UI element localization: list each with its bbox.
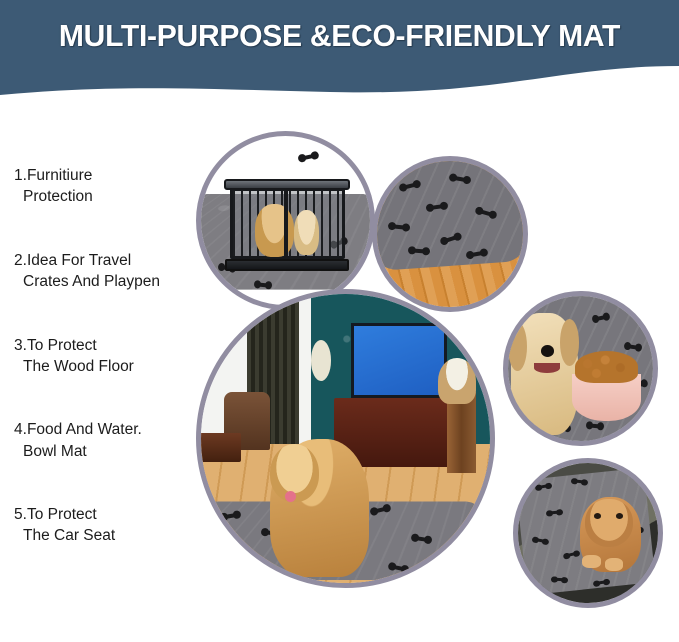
bone-icon: [391, 564, 405, 571]
feature-item-1: 1.Furnitiure Protection: [14, 165, 200, 208]
bone-icon: [589, 423, 601, 428]
crate-divider-bar: [284, 188, 288, 259]
puppy-left-eye: [594, 513, 601, 519]
feature-item-4: 4.Food And Water. Bowl Mat: [14, 419, 200, 462]
bone-icon: [403, 183, 418, 190]
crate-scene: [201, 136, 370, 305]
feature-1-line2: Protection: [14, 186, 200, 207]
crate-photo-bubble: [196, 131, 375, 310]
bone-icon: [574, 479, 585, 483]
dog-right-ear: [560, 319, 579, 365]
dog-left-ear: [508, 322, 527, 371]
car-seat-photo-bubble: [513, 458, 663, 608]
bone-icon: [595, 315, 608, 321]
bone-icon: [470, 250, 484, 256]
bone-icon: [627, 344, 639, 350]
bone-icon: [374, 506, 388, 513]
feature-item-2: 2.Idea For Travel Crates And Playpen: [14, 250, 200, 293]
feature-3-number: 3.: [14, 337, 27, 354]
bone-icon: [444, 235, 459, 243]
feature-1-number: 1.: [14, 167, 27, 184]
bone-icon: [549, 510, 560, 514]
bone-icon: [391, 225, 405, 230]
puppy-paw-left: [582, 555, 600, 568]
bone-icon: [224, 513, 237, 519]
header-wave-background: [0, 0, 679, 110]
bone-icon: [596, 580, 607, 585]
bone-icon: [554, 577, 565, 581]
bone-icon: [479, 209, 494, 217]
bone-icon: [412, 248, 426, 253]
car-seat-scene: [518, 463, 658, 603]
puppy-head: [585, 499, 633, 547]
dog-open-mouth: [534, 363, 560, 373]
dog-crate: [230, 188, 345, 259]
feature-5-line2: The Car Seat: [14, 525, 200, 546]
crate-base-tray: [225, 259, 349, 271]
bone-icon: [537, 484, 548, 489]
feature-item-5: 5.To Protect The Car Seat: [14, 504, 200, 547]
feature-4-line1: Food And Water.: [27, 421, 142, 438]
header-banner: MULTI-PURPOSE &ECO-FRIENDLY MAT: [0, 0, 679, 110]
bone-icon: [429, 204, 443, 210]
feature-2-number: 2.: [14, 252, 27, 269]
bone-icon: [453, 176, 467, 182]
feature-5-line1: To Protect: [27, 506, 97, 523]
wood-floor-photo-bubble: [372, 156, 528, 312]
feature-list: 1.Furnitiure Protection 2.Idea For Trave…: [14, 165, 200, 589]
feature-3-line2: The Wood Floor: [14, 356, 200, 377]
living-room-photo-bubble: [196, 289, 495, 588]
page-title: MULTI-PURPOSE &ECO-FRIENDLY MAT: [10, 18, 669, 54]
feature-2-line2: Crates And Playpen: [14, 271, 200, 292]
dog-in-crate: [255, 204, 294, 257]
wood-mat-bones: [377, 161, 523, 307]
food-bowl-scene: [508, 296, 653, 441]
feature-4-number: 4.: [14, 421, 27, 438]
feature-5-number: 5.: [14, 506, 27, 523]
bone-icon: [302, 153, 316, 160]
puppy-paw-right: [605, 558, 623, 571]
food-bowl-photo-bubble: [503, 291, 658, 446]
feature-1-line1: Furnitiure: [27, 167, 92, 184]
feature-3-line1: To Protect: [27, 337, 97, 354]
feature-4-line2: Bowl Mat: [14, 441, 200, 462]
feature-2-line1: Idea For Travel: [27, 252, 131, 269]
dog-kibble: [575, 351, 639, 383]
bone-icon: [565, 551, 576, 557]
bone-icon: [241, 560, 254, 565]
wood-floor-scene: [377, 161, 523, 307]
second-dog-in-crate: [294, 210, 319, 255]
feature-item-3: 3.To Protect The Wood Floor: [14, 335, 200, 378]
puppy-right-eye: [616, 513, 623, 519]
living-room-scene: [201, 294, 490, 583]
bone-icon: [415, 536, 428, 542]
bone-icon: [257, 283, 269, 288]
bone-icon: [535, 538, 546, 543]
